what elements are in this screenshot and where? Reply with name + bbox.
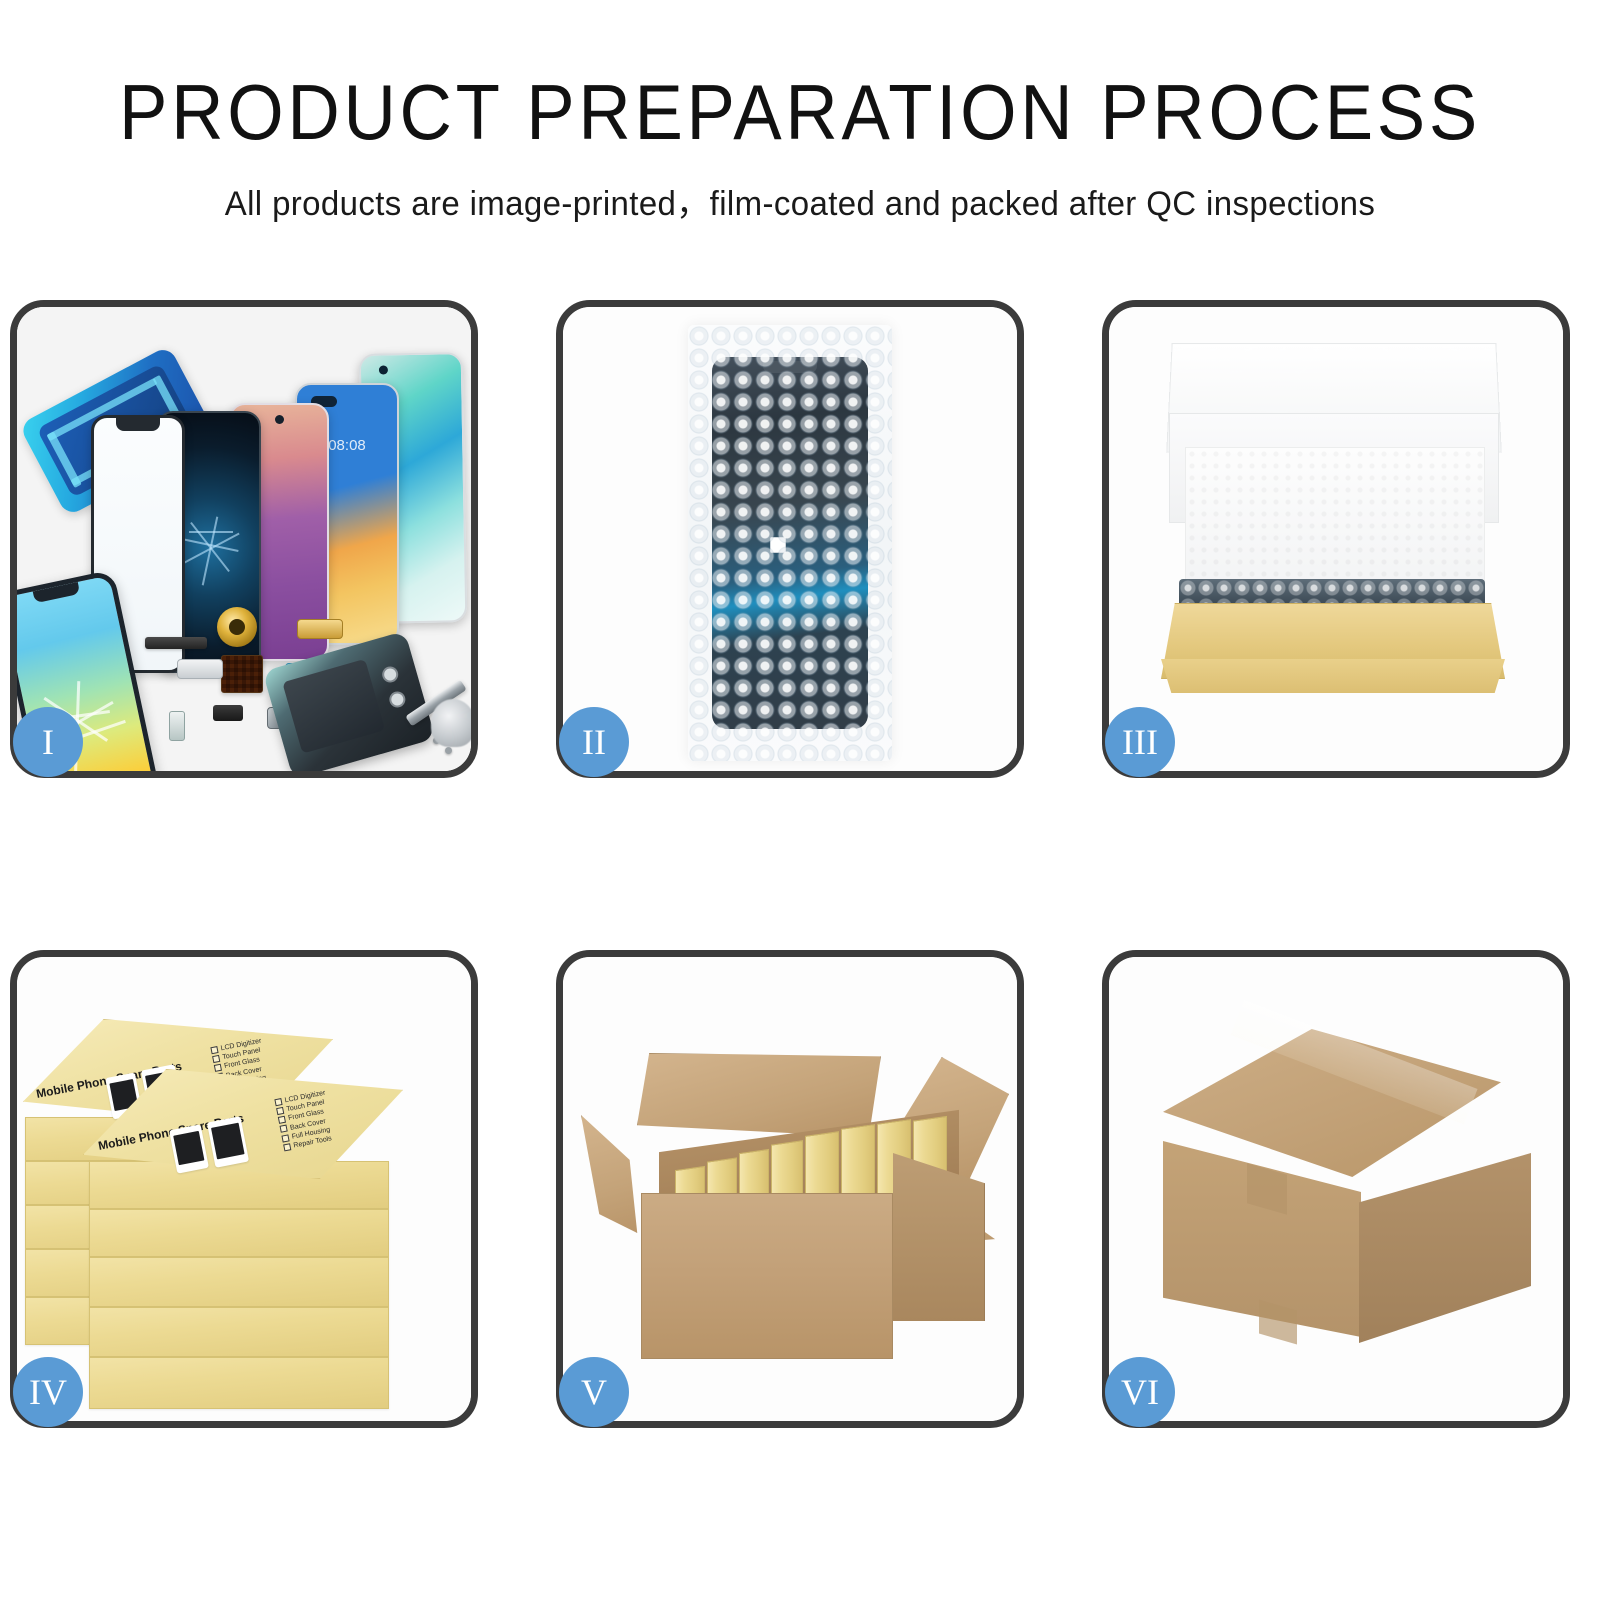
step-1-image: 08:08 xyxy=(17,307,471,771)
earpiece-mesh-part xyxy=(145,637,207,649)
carton-side-face xyxy=(893,1153,985,1321)
retail-box-checklist-front: LCD Digitizer Touch Panel Front Glass Ba… xyxy=(274,1089,335,1153)
step-5-image xyxy=(563,957,1017,1421)
page-subtitle: All products are image-printed，film-coat… xyxy=(24,176,1576,225)
flex-cable-part xyxy=(177,659,223,679)
process-step-card-3[interactable]: III xyxy=(1102,300,1570,778)
process-step-card-2[interactable]: II xyxy=(556,300,1024,778)
kraft-box-front-panel xyxy=(1161,659,1505,693)
process-step-card-4[interactable]: Mobile Phone Spare Parts LCD Digitizer T… xyxy=(10,950,478,1428)
step-6-image xyxy=(1109,957,1563,1421)
step-badge-2: II xyxy=(559,707,629,777)
wrapped-screen xyxy=(712,357,868,729)
step-badge-4: IV xyxy=(13,1357,83,1427)
carton-flap-back xyxy=(637,1053,881,1137)
process-step-card-1[interactable]: 08:08 xyxy=(10,300,478,778)
cleaning-brush-tool xyxy=(431,699,471,747)
step-badge-5: V xyxy=(559,1357,629,1427)
flex-cable-gold-part xyxy=(297,619,343,639)
step-badge-3: III xyxy=(1105,707,1175,777)
foam-insert xyxy=(1185,447,1485,587)
step-3-image xyxy=(1109,307,1563,771)
step-4-image: Mobile Phone Spare Parts LCD Digitizer T… xyxy=(17,957,471,1421)
step-badge-6: VI xyxy=(1105,1357,1175,1427)
carton-front-face xyxy=(641,1193,893,1359)
step-2-image xyxy=(563,307,1017,771)
chip-component-part xyxy=(213,705,243,721)
sim-tray-part xyxy=(169,711,185,741)
page-header: PRODUCT PREPARATION PROCESS All products… xyxy=(0,0,1600,225)
process-step-grid: 08:08 xyxy=(0,300,1600,1600)
step-badge-1: I xyxy=(13,707,83,777)
screw-part xyxy=(445,747,452,754)
speaker-coil-part xyxy=(217,607,257,647)
sealed-carton-side xyxy=(1359,1153,1531,1343)
package-label-sticker xyxy=(770,537,786,553)
page-title: PRODUCT PREPARATION PROCESS xyxy=(56,72,1544,154)
process-step-card-5[interactable]: V xyxy=(556,950,1024,1428)
bubble-wrap-package xyxy=(688,325,892,761)
ic-chip-part xyxy=(221,655,263,693)
process-step-card-6[interactable]: VI xyxy=(1102,950,1570,1428)
